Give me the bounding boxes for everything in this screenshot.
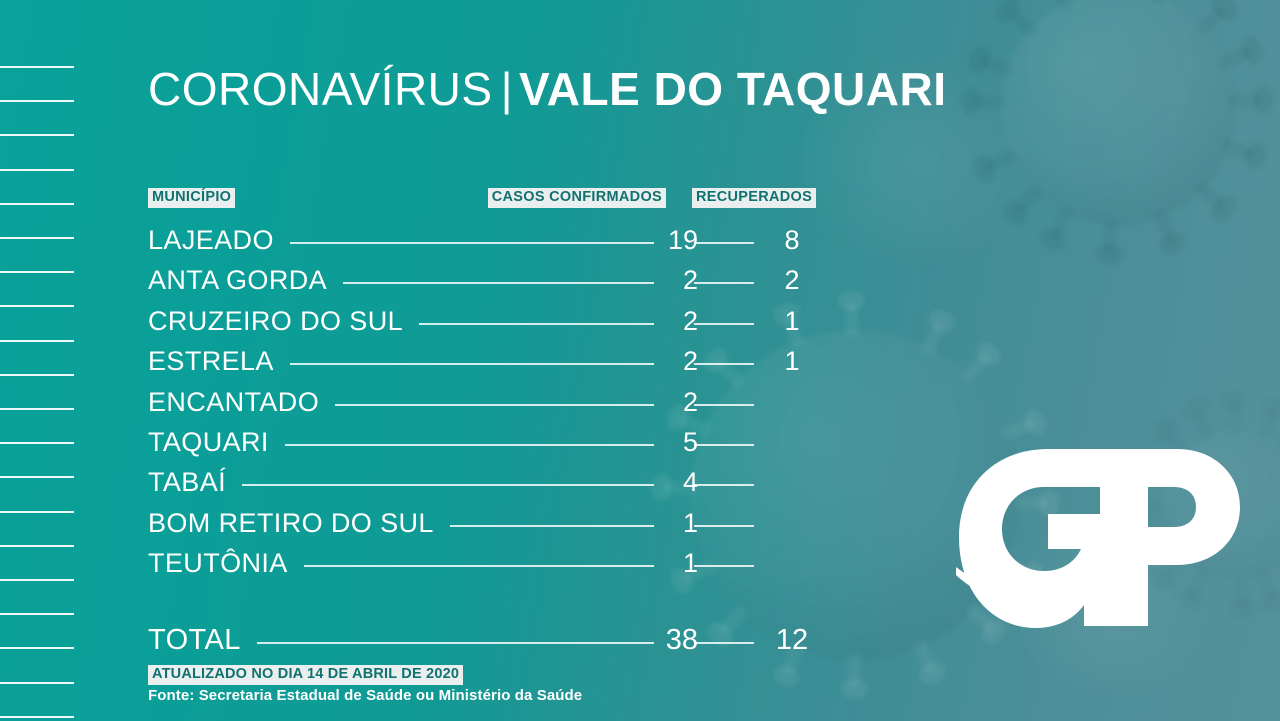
row-city-name: TAQUARI [148,427,269,457]
row-dash-long [450,525,654,527]
virus-spike-icon [1254,567,1278,603]
virus-spike-icon [1194,179,1228,212]
stripe-rule [0,134,74,136]
row-city-name: BOM RETIRO DO SUL [148,508,434,538]
virus-spike-icon [1000,417,1036,442]
row-recovered-value: 2 [768,265,816,295]
stripe-rule [0,100,74,102]
row-confirmed-value: 2 [638,387,698,417]
row-dash-short [694,282,754,284]
footer-updated-date: ATUALIZADO NO DIA 14 DE ABRIL DE 2020 [148,665,463,685]
row-confirmed-value: 4 [638,467,698,497]
stripe-rule [0,682,74,684]
virus-spike-icon [1228,92,1263,107]
column-header-recovered: RECUPERADOS [692,188,816,208]
virus-spike-icon [1047,0,1074,11]
virus-spike-icon [1103,218,1118,253]
stripe-rule [0,374,74,376]
stripe-rule [0,237,74,239]
virus-spike-icon [1221,138,1257,161]
table-row: ANTA GORDA22 [148,265,848,305]
virus-spike-icon [1255,407,1280,443]
total-dash-short [694,642,754,644]
stripe-rule [0,647,74,649]
table-row: LAJEADO198 [148,225,848,265]
title-part-light: CORONAVÍRUS [148,63,493,115]
virus-spike-icon [1194,3,1228,36]
row-recovered-value: 1 [768,306,816,336]
row-confirmed-value: 1 [638,548,698,578]
virus-spike-icon [972,94,1007,109]
row-city-name: ESTRELA [148,346,274,376]
row-city-name: ENCANTADO [148,387,319,417]
row-recovered-value: 8 [768,225,816,255]
row-dash-short [694,404,754,406]
row-confirmed-value: 2 [638,265,698,295]
row-dash-long [419,323,654,325]
virus-spike-icon [1190,407,1215,443]
stripe-rule [0,271,74,273]
virus-spike-icon [847,654,860,688]
total-dash-long [257,642,654,644]
row-dash-short [694,565,754,567]
stripe-rule [0,716,74,718]
row-city-name: CRUZEIRO DO SUL [148,306,403,336]
table-row: ESTRELA21 [148,346,848,386]
row-confirmed-value: 1 [638,508,698,538]
row-dash-long [335,404,654,406]
virus-spike-icon [959,350,992,384]
row-city-name: LAJEADO [148,225,274,255]
title-part-bold: VALE DO TAQUARI [519,63,946,115]
stripe-rule [0,340,74,342]
row-dash-long [242,484,654,486]
row-city-name: ANTA GORDA [148,265,327,295]
page-title: CORONAVÍRUS|VALE DO TAQUARI [148,66,946,112]
stripe-rule [0,579,74,581]
stripe-rule [0,476,74,478]
stripe-rule [0,613,74,615]
column-header-confirmed: CASOS CONFIRMADOS [488,188,666,208]
virus-spike-icon [920,319,947,355]
row-confirmed-value: 5 [638,427,698,457]
row-city-name: TEUTÔNIA [148,548,288,578]
table-row: CRUZEIRO DO SUL21 [148,306,848,346]
table-row: BOM RETIRO DO SUL1 [148,508,848,548]
table-row: TABAÍ4 [148,467,848,507]
left-stripe-decoration [0,0,74,721]
row-dash-long [290,242,654,244]
total-confirmed: 38 [638,625,698,655]
stripe-rule [0,169,74,171]
virus-spike-icon [1153,208,1178,244]
row-dash-long [290,363,654,365]
stripe-rule [0,66,74,68]
row-dash-long [304,565,654,567]
row-dash-short [694,363,754,365]
stripe-rule [0,511,74,513]
virus-spike-icon [1150,0,1174,5]
row-city-name: TABAÍ [148,467,226,497]
row-dash-long [343,282,654,284]
row-confirmed-value: 2 [638,346,698,376]
stripe-rule [0,203,74,205]
table-row: TEUTÔNIA1 [148,548,848,588]
table-row-total: TOTAL 38 12 [148,625,848,665]
row-dash-short [694,525,754,527]
virus-spike-icon [1227,402,1240,436]
virus-spike-icon [1005,6,1039,38]
row-dash-long [285,444,654,446]
stripe-rule [0,545,74,547]
row-dash-short [694,242,754,244]
total-label: TOTAL [148,625,241,655]
gp-logo [952,445,1242,630]
stripe-rule [0,305,74,307]
row-confirmed-value: 19 [638,225,698,255]
row-dash-short [694,323,754,325]
row-dash-short [694,484,754,486]
virus-particle-icon [1000,0,1235,225]
row-dash-short [694,444,754,446]
column-header-municipality: MUNICÍPIO [148,188,235,208]
total-recovered: 12 [768,625,816,655]
virus-spike-icon [1218,45,1254,70]
table-row: TAQUARI5 [148,427,848,467]
coronavirus-infographic: CORONAVÍRUS|VALE DO TAQUARI MUNICÍPIO CA… [0,0,1280,721]
row-confirmed-value: 2 [638,306,698,336]
footer-source: Fonte: Secretaria Estadual de Saúde ou M… [148,687,582,704]
title-separator: | [501,63,513,115]
virus-spike-icon [1048,205,1075,241]
table-row: ENCANTADO2 [148,387,848,427]
virus-spike-icon [912,638,937,674]
stripe-rule [0,408,74,410]
row-recovered-value: 1 [768,346,816,376]
stripe-rule [0,442,74,444]
